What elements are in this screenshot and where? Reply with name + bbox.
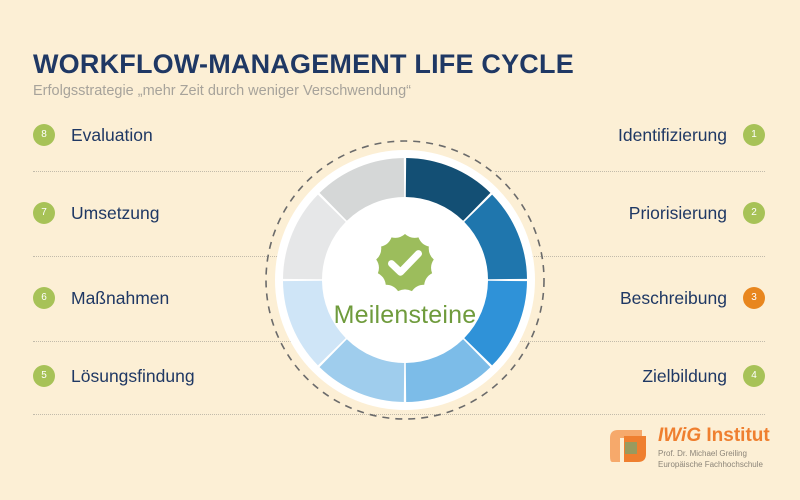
step-badge-6: 6 [33,287,55,309]
sidebar-item-zielbildung[interactable]: 4 Zielbildung [642,361,765,391]
step-badge-1: 1 [743,124,765,146]
step-badge-3: 3 [743,287,765,309]
sidebar-item-priorisierung[interactable]: 2 Priorisierung [629,198,765,228]
iwig-logo-mark-icon [606,424,650,468]
step-badge-2: 2 [743,202,765,224]
life-cycle-donut-chart[interactable]: Meilensteine [262,137,548,423]
logo-mark-svg [606,424,650,468]
sidebar-item-loesungsfindung[interactable]: 5 Lösungsfindung [33,361,195,391]
sidebar-item-identifizierung[interactable]: 1 Identifizierung [618,120,765,150]
step-label-identifizierung: Identifizierung [618,125,727,146]
logo-subline-2: Europäische Fachhochschule [658,460,770,471]
sidebar-item-umsetzung[interactable]: 7 Umsetzung [33,198,160,228]
logo-name-iwig: IWiG [658,425,701,446]
donut-svg [262,137,548,423]
step-label-evaluation: Evaluation [71,125,153,146]
page-title: WORKFLOW-MANAGEMENT LIFE CYCLE [33,50,733,78]
step-label-massnahmen: Maßnahmen [71,288,169,309]
iwig-logo[interactable]: IWiG Institut Prof. Dr. Michael Greiling… [606,424,770,471]
step-badge-5: 5 [33,365,55,387]
logo-name-institut: Institut [706,425,769,446]
step-badge-7: 7 [33,202,55,224]
header: WORKFLOW-MANAGEMENT LIFE CYCLE Erfolgsst… [33,50,733,99]
logo-text-block: IWiG Institut Prof. Dr. Michael Greiling… [658,424,770,471]
step-label-zielbildung: Zielbildung [642,366,727,387]
page-subtitle: Erfolgsstrategie „mehr Zeit durch wenige… [33,83,733,99]
step-label-loesungsfindung: Lösungsfindung [71,366,195,387]
logo-title: IWiG Institut [658,426,770,445]
step-label-beschreibung: Beschreibung [620,288,727,309]
step-label-priorisierung: Priorisierung [629,203,727,224]
sidebar-item-evaluation[interactable]: 8 Evaluation [33,120,153,150]
step-badge-8: 8 [33,124,55,146]
donut-inner-circle [325,200,485,360]
sidebar-item-massnahmen[interactable]: 6 Maßnahmen [33,283,169,313]
infographic-canvas: WORKFLOW-MANAGEMENT LIFE CYCLE Erfolgsst… [0,0,800,500]
sidebar-item-beschreibung[interactable]: 3 Beschreibung [620,283,765,313]
step-label-umsetzung: Umsetzung [71,203,160,224]
logo-subline-1: Prof. Dr. Michael Greiling [658,449,770,460]
logo-subline: Prof. Dr. Michael Greiling Europäische F… [658,449,770,471]
step-badge-4: 4 [743,365,765,387]
